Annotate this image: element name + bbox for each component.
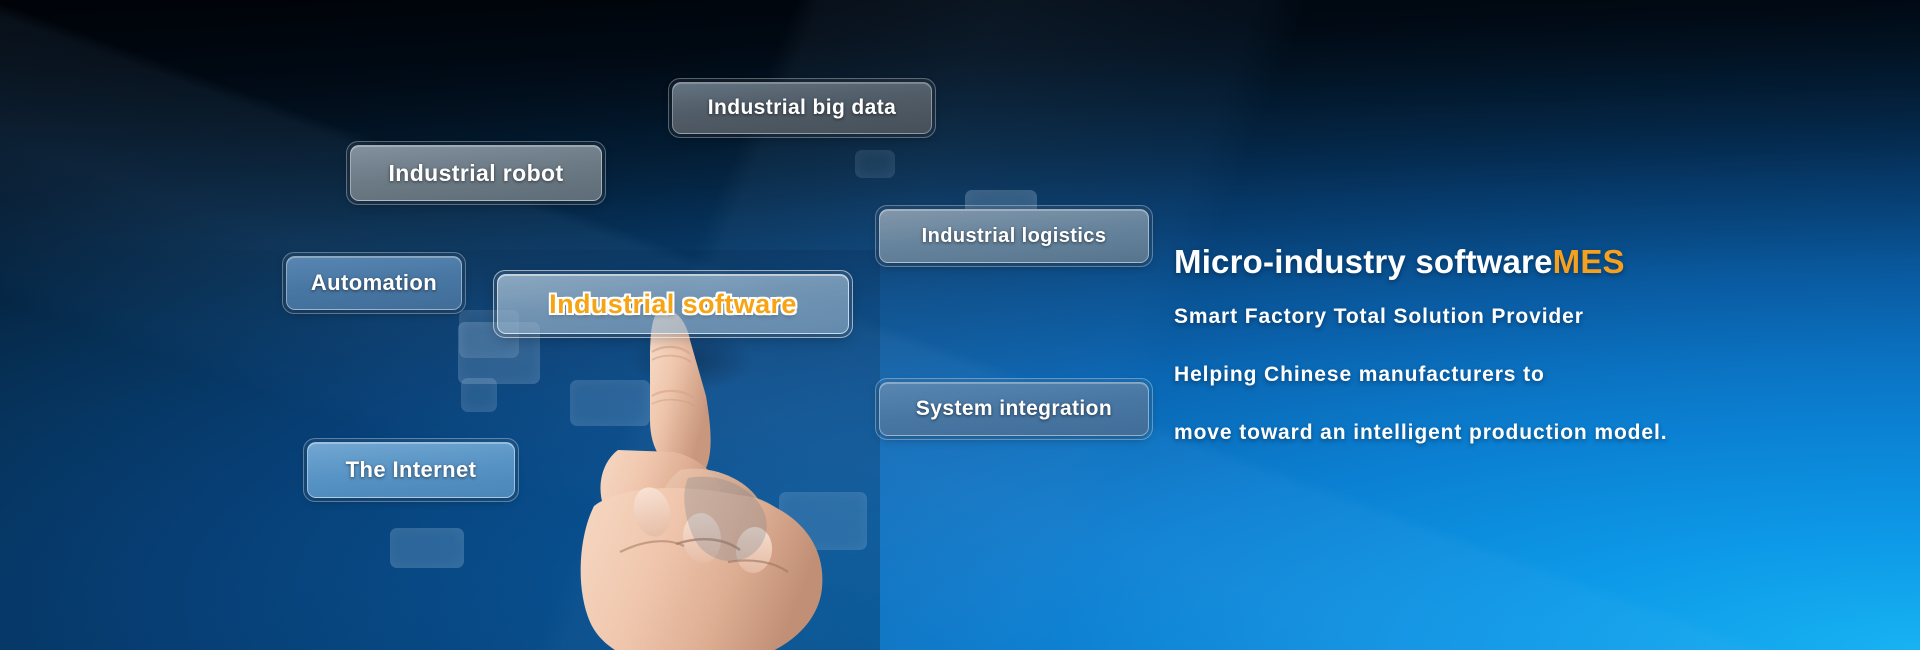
hand-pointing-icon: [560, 300, 850, 650]
tagline-line-3: move toward an intelligent production mo…: [1174, 422, 1874, 443]
tile-label: System integration: [916, 397, 1112, 421]
headline-main: Micro-industry software: [1174, 243, 1553, 280]
tagline-line-1: Smart Factory Total Solution Provider: [1174, 306, 1874, 327]
decorative-square: [855, 150, 895, 178]
tile-industrial-logistics[interactable]: Industrial logistics: [879, 209, 1149, 263]
decorative-square: [390, 528, 464, 568]
tile-the-internet[interactable]: The Internet: [307, 442, 515, 498]
tile-label: Industrial robot: [388, 160, 563, 187]
tile-label: Industrial big data: [708, 96, 896, 120]
banner-stage: Industrial big dataIndustrial robotIndus…: [0, 0, 1920, 650]
headline-accent-mes: MES: [1553, 243, 1625, 280]
copy-block: Micro-industry softwareMES Smart Factory…: [1174, 244, 1874, 443]
tile-label: Industrial software: [549, 289, 797, 320]
tile-label: The Internet: [346, 457, 477, 483]
tile-system-integration[interactable]: System integration: [879, 382, 1149, 436]
tile-industrial-robot[interactable]: Industrial robot: [350, 145, 602, 201]
tile-industrial-software[interactable]: Industrial software: [497, 274, 849, 334]
page-title: Micro-industry softwareMES: [1174, 244, 1874, 280]
tile-automation[interactable]: Automation: [286, 256, 462, 310]
tile-label: Industrial logistics: [922, 225, 1107, 248]
tile-label: Automation: [311, 270, 437, 296]
tagline-line-2: Helping Chinese manufacturers to: [1174, 364, 1874, 385]
tile-industrial-big-data[interactable]: Industrial big data: [672, 82, 932, 134]
decorative-square: [461, 378, 497, 412]
